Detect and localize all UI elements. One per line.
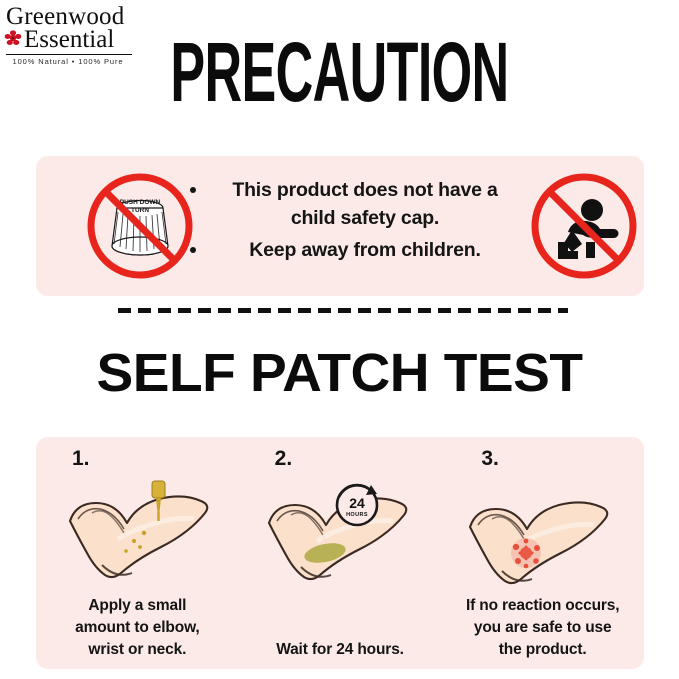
step-3: 3.	[441, 437, 644, 669]
page-title-precaution: PRECAUTION	[129, 28, 550, 116]
svg-text:PUSH DOWN: PUSH DOWN	[120, 199, 161, 206]
svg-text:24: 24	[349, 495, 365, 511]
elbow-with-rash-icon	[454, 479, 632, 602]
brand-tagline: 100% Natural • 100% Pure	[2, 57, 132, 66]
step-caption: If no reaction occurs, you are safe to u…	[447, 595, 638, 661]
bullet-dot-icon	[190, 187, 196, 193]
elbow-with-24-hours-badge-icon: 24 HOURS	[251, 479, 429, 602]
list-item: Keep away from children.	[176, 236, 516, 264]
flower-icon	[4, 29, 22, 52]
section-divider	[118, 308, 568, 313]
precaution-panel: PUSH DOWN TURN This product does not hav…	[36, 156, 644, 296]
step-1: 1.	[36, 437, 239, 669]
step-caption: Wait for 24 hours.	[245, 639, 436, 661]
brand-logo: Greenwood Essential 100% Natural	[2, 4, 137, 66]
step-2: 2.	[239, 437, 442, 669]
list-item: This product does not have a child safet…	[176, 176, 516, 232]
brand-name-line2-row: Essential	[2, 27, 137, 53]
no-children-icon	[528, 170, 640, 287]
step-number: 3.	[481, 447, 499, 471]
precaution-bullet-text: Keep away from children.	[249, 239, 480, 261]
step-number: 1.	[72, 447, 90, 471]
bullet-dot-icon	[190, 247, 196, 253]
brand-name-line2: Essential	[24, 27, 114, 53]
precaution-infographic: Greenwood Essential 100% Natural	[0, 0, 679, 679]
precaution-bullet-text: This product does not have a child safet…	[232, 179, 497, 229]
step-caption: Apply a small amount to elbow, wrist or …	[42, 595, 233, 661]
precaution-bullet-list: This product does not have a child safet…	[176, 176, 516, 264]
step-number: 2.	[275, 447, 293, 471]
steps-row: 1.	[36, 437, 644, 669]
svg-text:TURN: TURN	[131, 207, 149, 214]
svg-text:HOURS: HOURS	[346, 512, 368, 518]
self-patch-test-steps-panel: 1.	[36, 437, 644, 669]
brand-underline	[6, 54, 132, 55]
elbow-with-dropper-icon	[48, 479, 226, 602]
page-title-self-patch-test: SELF PATCH TEST	[0, 344, 679, 402]
